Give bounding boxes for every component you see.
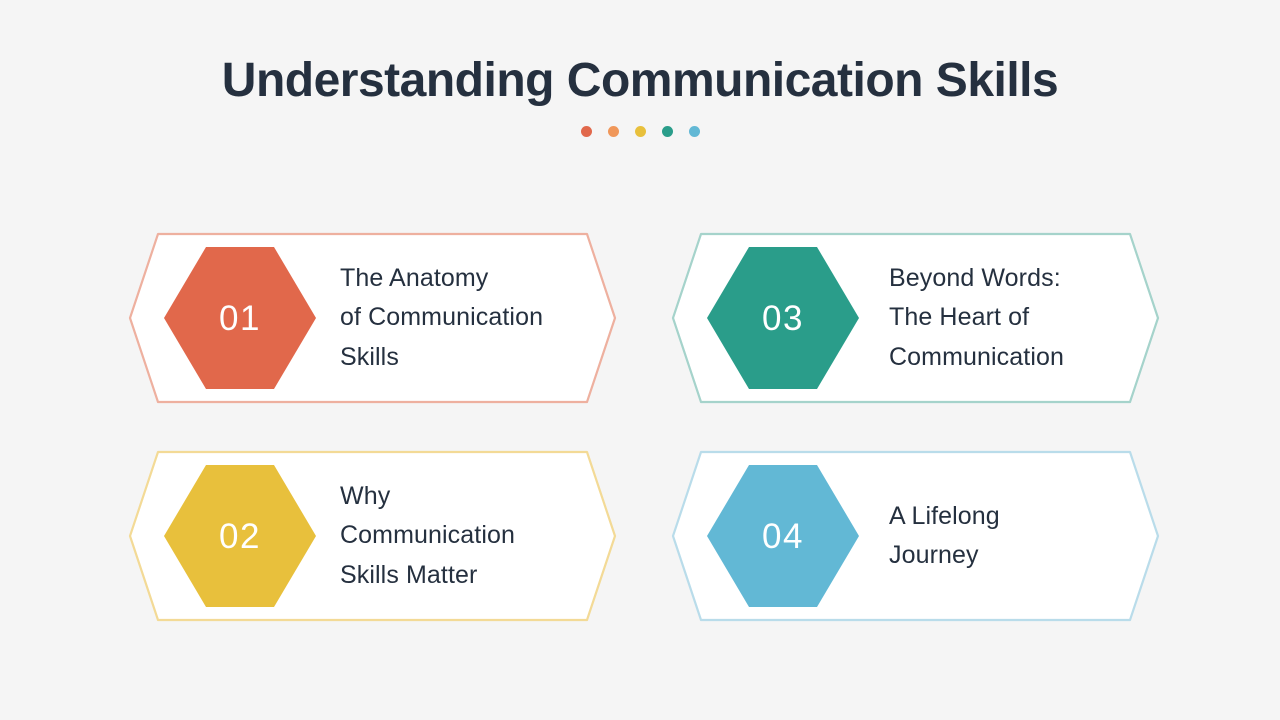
- card-02[interactable]: 02 Why Communication Skills Matter: [124, 446, 621, 626]
- card-04[interactable]: 04 A Lifelong Journey: [667, 446, 1164, 626]
- card-number: 02: [219, 519, 261, 554]
- dot-coral-icon: [581, 126, 592, 137]
- card-01[interactable]: 01 The Anatomy of Communication Skills: [124, 228, 621, 408]
- card-03[interactable]: 03 Beyond Words: The Heart of Communicat…: [667, 228, 1164, 408]
- number-hexagon-03: 03: [705, 245, 861, 391]
- card-title: A Lifelong Journey: [889, 497, 1164, 576]
- card-title: The Anatomy of Communication Skills: [340, 259, 621, 378]
- slide-canvas: Understanding Communication Skills 01 Th…: [0, 0, 1280, 720]
- dot-yellow-icon: [635, 126, 646, 137]
- decorative-dot-row: [0, 126, 1280, 137]
- dot-teal-icon: [662, 126, 673, 137]
- dot-orange-icon: [608, 126, 619, 137]
- slide-header: Understanding Communication Skills: [0, 54, 1280, 137]
- card-title: Why Communication Skills Matter: [340, 477, 621, 596]
- card-grid: 01 The Anatomy of Communication Skills 0…: [124, 228, 1156, 626]
- number-hexagon-02: 02: [162, 463, 318, 609]
- number-hexagon-04: 04: [705, 463, 861, 609]
- card-number: 01: [219, 301, 261, 336]
- card-number: 03: [762, 301, 804, 336]
- page-title: Understanding Communication Skills: [0, 54, 1280, 108]
- number-hexagon-01: 01: [162, 245, 318, 391]
- dot-blue-icon: [689, 126, 700, 137]
- card-title: Beyond Words: The Heart of Communication: [889, 259, 1164, 378]
- card-number: 04: [762, 519, 804, 554]
